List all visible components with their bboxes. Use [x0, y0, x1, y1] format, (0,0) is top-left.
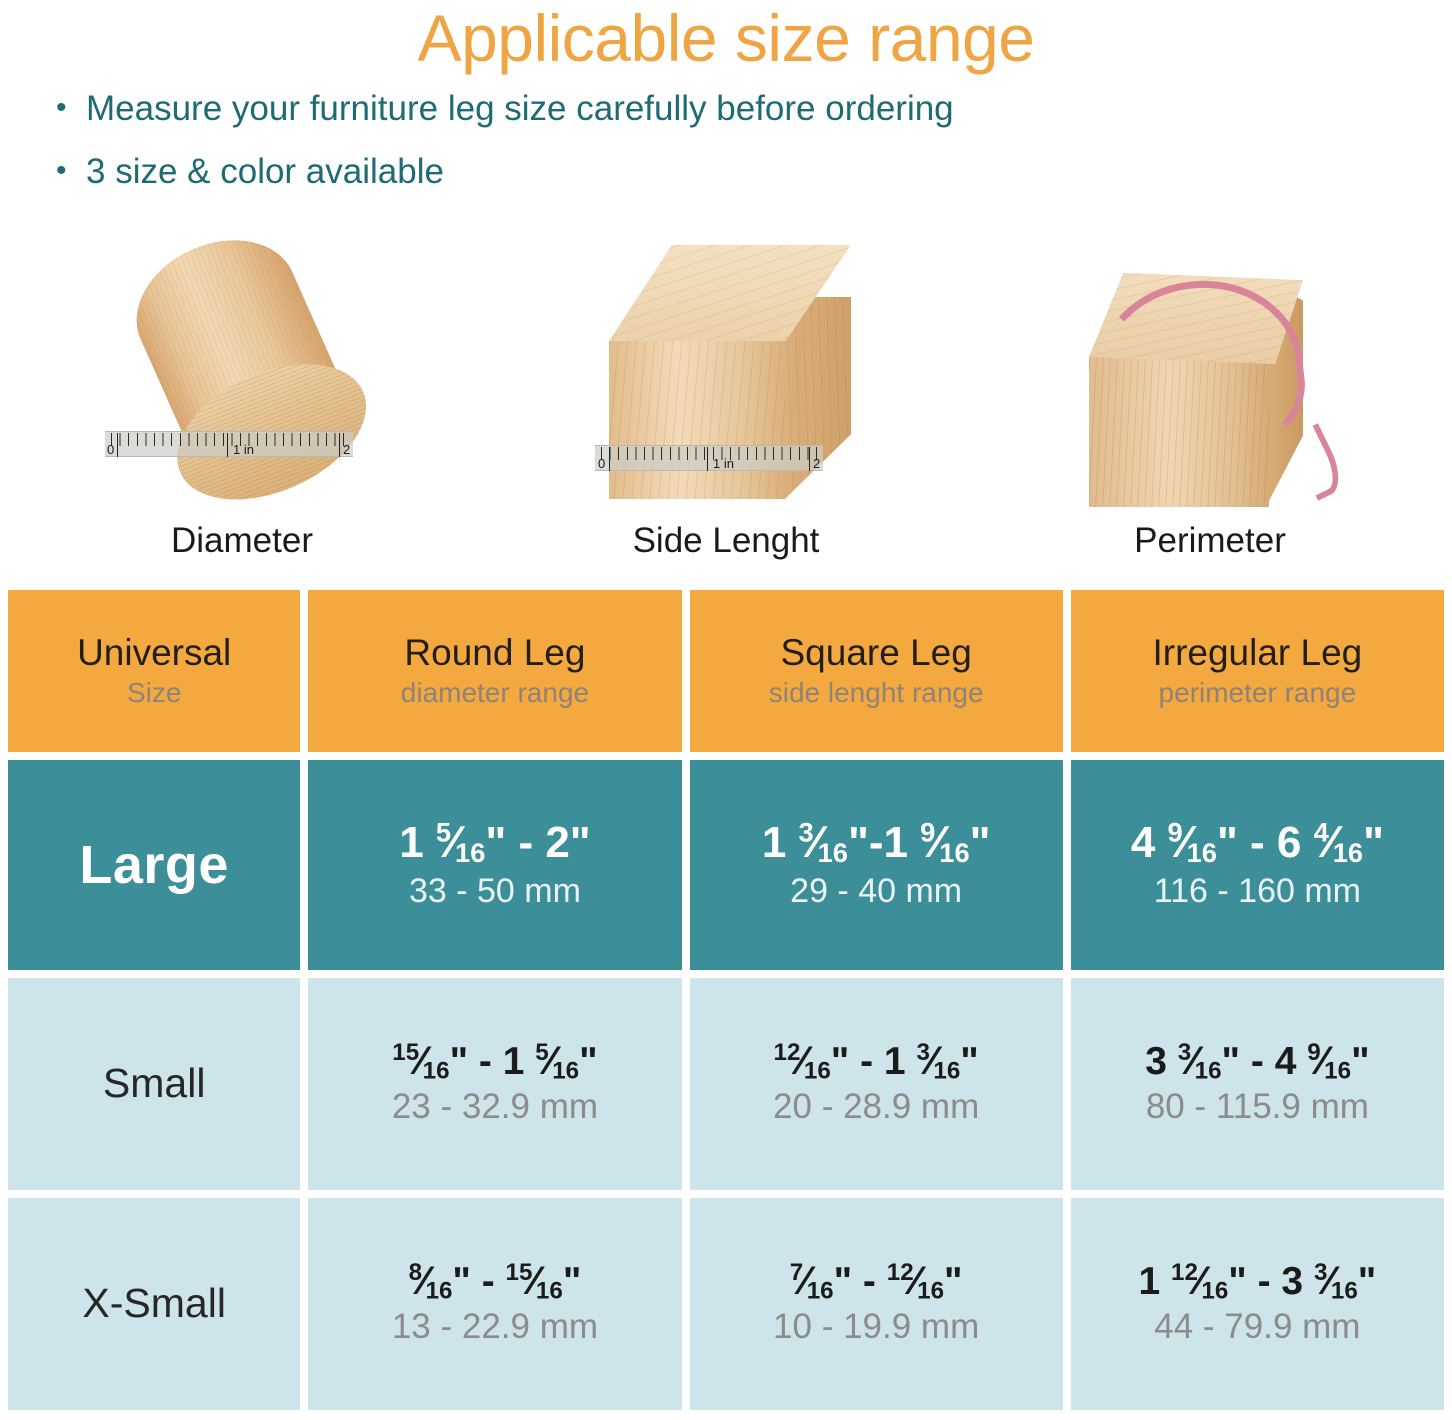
value-mm: 23 - 32.9 mm — [308, 1086, 681, 1128]
value-mm: 13 - 22.9 mm — [308, 1306, 681, 1348]
value-mm: 33 - 50 mm — [308, 871, 681, 912]
cell-large-square: 1 3⁄16"-1 9⁄16" 29 - 40 mm — [690, 760, 1063, 970]
ruler-label: 2 — [813, 456, 820, 471]
illustration-row: 0 1 in 2 0 1 in — [0, 213, 1452, 513]
value-inches: 15⁄16" - 1 5⁄16" — [308, 1040, 681, 1082]
column-header-universal-size: Universal Size — [8, 590, 300, 752]
value-inches: 8⁄16" - 15⁄16" — [308, 1260, 681, 1302]
cell-large-irregular: 4 9⁄16" - 6 4⁄16" 116 - 160 mm — [1071, 760, 1444, 970]
value-inches: 1 12⁄16" - 3 3⁄16" — [1071, 1260, 1444, 1302]
measuring-string-tail-icon — [1287, 423, 1348, 501]
table-row: Small 15⁄16" - 1 5⁄16" 23 - 32.9 mm 12⁄1… — [8, 978, 1444, 1190]
bullet-dot-icon: • — [56, 150, 86, 193]
list-item: • 3 size & color available — [56, 150, 1452, 195]
cell-small-irregular: 3 3⁄16" - 4 9⁄16" 80 - 115.9 mm — [1071, 978, 1444, 1190]
value-mm: 116 - 160 mm — [1071, 871, 1444, 912]
bullet-text: Measure your furniture leg size carefull… — [86, 87, 1452, 132]
value-mm: 20 - 28.9 mm — [690, 1086, 1063, 1128]
value-inches: 4 9⁄16" - 6 4⁄16" — [1071, 818, 1444, 867]
value-inches: 7⁄16" - 12⁄16" — [690, 1260, 1063, 1302]
size-chart-page: Applicable size range • Measure your fur… — [0, 0, 1452, 1420]
ruler-label: 2 — [343, 442, 350, 457]
bullet-dot-icon: • — [56, 87, 86, 130]
illustration-label-side-lenght: Side Lenght — [484, 521, 968, 558]
value-inches: 3 3⁄16" - 4 9⁄16" — [1071, 1040, 1444, 1082]
value-mm: 80 - 115.9 mm — [1071, 1086, 1444, 1128]
column-header-sub: diameter range — [308, 676, 681, 710]
cell-x-small-round: 8⁄16" - 15⁄16" 13 - 22.9 mm — [308, 1198, 681, 1410]
list-item: • Measure your furniture leg size carefu… — [56, 87, 1452, 132]
size-label: Small — [8, 1060, 300, 1107]
irregular-leg-icon — [1083, 241, 1345, 503]
value-inches: 1 3⁄16"-1 9⁄16" — [690, 818, 1063, 867]
value-mm: 44 - 79.9 mm — [1071, 1306, 1444, 1348]
column-header-square-leg: Square Leg side lenght range — [690, 590, 1063, 752]
table-row: X-Small 8⁄16" - 15⁄16" 13 - 22.9 mm 7⁄16… — [8, 1198, 1444, 1410]
ruler-label: 1 in — [713, 456, 734, 471]
column-header-main: Square Leg — [690, 632, 1063, 673]
cell-small-square: 12⁄16" - 1 3⁄16" 20 - 28.9 mm — [690, 978, 1063, 1190]
bullet-text: 3 size & color available — [86, 150, 1452, 195]
column-header-sub: Size — [8, 676, 300, 710]
table-row: Large 1 5⁄16" - 2" 33 - 50 mm 1 3⁄16"-1 … — [8, 760, 1444, 970]
value-mm: 29 - 40 mm — [690, 871, 1063, 912]
illustration-diameter: 0 1 in 2 — [0, 213, 484, 513]
illustration-side-lenght: 0 1 in 2 — [484, 213, 968, 513]
ruler-icon: 0 1 in 2 — [595, 445, 823, 471]
row-size-label-large: Large — [8, 760, 300, 970]
illustration-label-diameter: Diameter — [0, 521, 484, 558]
column-header-irregular-leg: Irregular Leg perimeter range — [1071, 590, 1444, 752]
cell-x-small-irregular: 1 12⁄16" - 3 3⁄16" 44 - 79.9 mm — [1071, 1198, 1444, 1410]
illustration-label-perimeter: Perimeter — [968, 521, 1452, 558]
cell-x-small-square: 7⁄16" - 12⁄16" 10 - 19.9 mm — [690, 1198, 1063, 1410]
column-header-main: Round Leg — [308, 632, 681, 673]
cell-large-round: 1 5⁄16" - 2" 33 - 50 mm — [308, 760, 681, 970]
ruler-label: 1 in — [233, 442, 254, 457]
value-mm: 10 - 19.9 mm — [690, 1306, 1063, 1348]
table-header-row: Universal Size Round Leg diameter range … — [8, 590, 1444, 752]
value-inches: 1 5⁄16" - 2" — [308, 818, 681, 867]
ruler-label: 0 — [598, 456, 605, 471]
bullet-list: • Measure your furniture leg size carefu… — [0, 87, 1452, 195]
row-size-label-x-small: X-Small — [8, 1198, 300, 1410]
column-header-sub: side lenght range — [690, 676, 1063, 710]
illustration-perimeter — [968, 213, 1452, 513]
column-header-round-leg: Round Leg diameter range — [308, 590, 681, 752]
ruler-label: 0 — [107, 442, 114, 457]
column-header-main: Irregular Leg — [1071, 632, 1444, 673]
size-table: Universal Size Round Leg diameter range … — [0, 582, 1452, 1418]
size-label: X-Small — [8, 1280, 300, 1327]
value-inches: 12⁄16" - 1 3⁄16" — [690, 1040, 1063, 1082]
column-header-sub: perimeter range — [1071, 676, 1444, 710]
illustration-labels: Diameter Side Lenght Perimeter — [0, 521, 1452, 558]
row-size-label-small: Small — [8, 978, 300, 1190]
cell-small-round: 15⁄16" - 1 5⁄16" 23 - 32.9 mm — [308, 978, 681, 1190]
ruler-icon: 0 1 in 2 — [105, 431, 353, 457]
size-label: Large — [8, 834, 300, 896]
round-leg-icon — [82, 194, 401, 532]
page-title: Applicable size range — [0, 0, 1452, 73]
column-header-main: Universal — [8, 632, 300, 673]
